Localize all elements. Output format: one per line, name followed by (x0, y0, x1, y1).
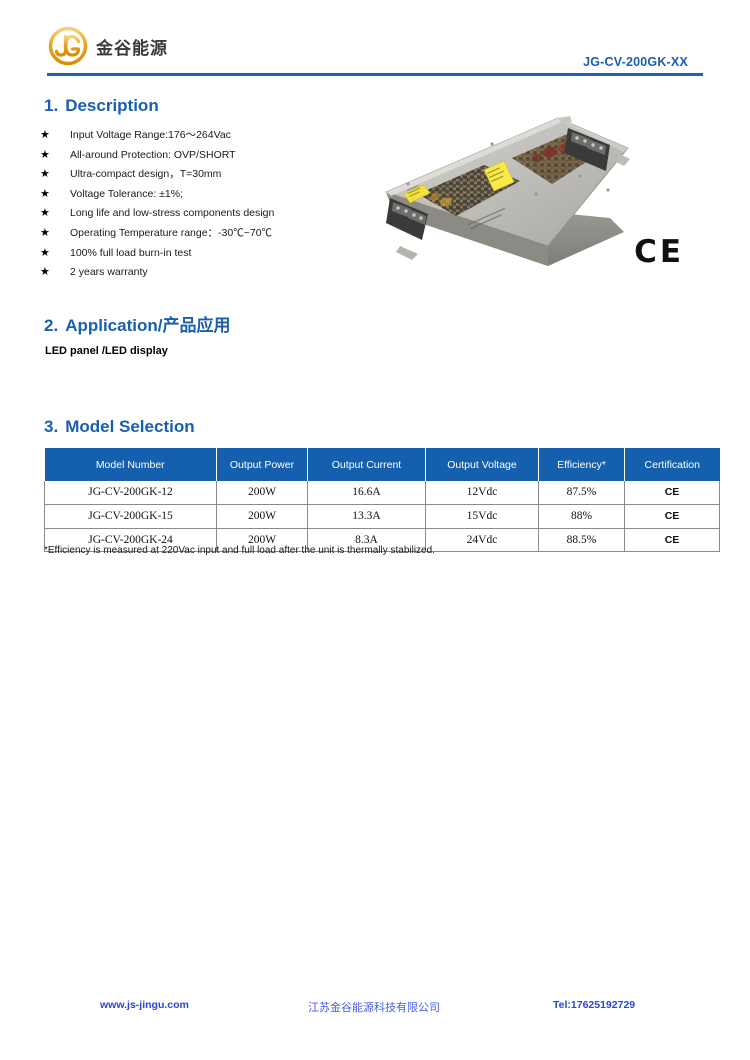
cell-voltage: 15Vdc (426, 504, 539, 528)
model-selection-table-wrapper: Model Number Output Power Output Current… (44, 448, 689, 552)
list-item: ★ Operating Temperature range：-30℃~70℃ (40, 226, 380, 246)
cell-voltage: 24Vdc (426, 528, 539, 552)
bullet-text: 100% full load burn-in test (70, 246, 191, 261)
section-title-application: Application/产品应用 (65, 316, 230, 335)
cell-model: JG-CV-200GK-15 (45, 504, 217, 528)
bullet-text: Input Voltage Range:176～264Vac (70, 128, 231, 143)
description-bullet-list: ★ Input Voltage Range:176～264Vac ★ All-a… (40, 128, 380, 285)
bullet-text: Operating Temperature range：-30℃~70℃ (70, 226, 272, 241)
cell-efficiency: 88% (539, 504, 625, 528)
cell-current: 16.6A (308, 481, 426, 504)
section-title-description: Description (65, 96, 159, 115)
list-item: ★ 2 years warranty (40, 265, 380, 285)
section-heading-description: 1.Description (44, 96, 159, 116)
column-header-model-number: Model Number (45, 448, 217, 481)
cell-efficiency: 88.5% (539, 528, 625, 552)
list-item: ★ Input Voltage Range:176～264Vac (40, 128, 380, 148)
header-divider (47, 73, 703, 76)
column-header-output-voltage: Output Voltage (426, 448, 539, 481)
section-number-2: 2. (44, 316, 58, 335)
list-item: ★ Long life and low-stress components de… (40, 206, 380, 226)
star-bullet-icon: ★ (40, 187, 70, 202)
bullet-text: Ultra-compact design，T=30mm (70, 167, 221, 182)
section-title-model-selection: Model Selection (65, 417, 194, 436)
cell-certification: CE (625, 481, 720, 504)
footer-website[interactable]: www.js-jingu.com (100, 999, 189, 1011)
list-item: ★ Ultra-compact design，T=30mm (40, 167, 380, 187)
column-header-output-power: Output Power (217, 448, 308, 481)
cell-power: 200W (217, 504, 308, 528)
table-row: JG-CV-200GK-12 200W 16.6A 12Vdc 87.5% CE (45, 481, 720, 504)
column-header-efficiency: Efficiency* (539, 448, 625, 481)
cell-model: JG-CV-200GK-12 (45, 481, 217, 504)
bullet-text: Voltage Tolerance: ±1%; (70, 187, 183, 202)
power-supply-photo (372, 96, 642, 276)
star-bullet-icon: ★ (40, 148, 70, 163)
table-row: JG-CV-200GK-15 200W 13.3A 15Vdc 88% CE (45, 504, 720, 528)
page-header: 金谷能源 JG-CV-200GK-XX (0, 0, 750, 82)
star-bullet-icon: ★ (40, 206, 70, 221)
table-header-row: Model Number Output Power Output Current… (45, 448, 720, 481)
cell-current: 13.3A (308, 504, 426, 528)
column-header-output-current: Output Current (308, 448, 426, 481)
jg-circular-logo-icon (47, 25, 89, 67)
cell-certification: CE (625, 528, 720, 552)
star-bullet-icon: ★ (40, 167, 70, 182)
company-name-cn: 金谷能源 (96, 34, 168, 59)
ce-mark-icon: CE (634, 234, 684, 270)
section-heading-model-selection: 3.Model Selection (44, 417, 195, 437)
page-footer: www.js-jingu.com 江苏金谷能源科技有限公司 Tel:176251… (0, 999, 750, 1021)
cell-voltage: 12Vdc (426, 481, 539, 504)
bullet-text: Long life and low-stress components desi… (70, 206, 274, 221)
footer-telephone: Tel:17625192729 (553, 999, 635, 1011)
list-item: ★ All-around Protection: OVP/SHORT (40, 148, 380, 168)
cell-efficiency: 87.5% (539, 481, 625, 504)
company-logo: 金谷能源 (47, 25, 168, 67)
section-number-1: 1. (44, 96, 58, 115)
model-selection-table: Model Number Output Power Output Current… (44, 448, 720, 552)
bullet-text: 2 years warranty (70, 265, 148, 280)
cell-certification: CE (625, 504, 720, 528)
bullet-text: All-around Protection: OVP/SHORT (70, 148, 236, 163)
star-bullet-icon: ★ (40, 246, 70, 261)
star-bullet-icon: ★ (40, 226, 70, 241)
column-header-certification: Certification (625, 448, 720, 481)
footer-company-cn: 江苏金谷能源科技有限公司 (308, 999, 440, 1015)
product-image-area: CE (372, 96, 698, 292)
section-number-3: 3. (44, 417, 58, 436)
efficiency-footnote: *Efficiency is measured at 220Vac input … (44, 545, 435, 556)
star-bullet-icon: ★ (40, 265, 70, 280)
list-item: ★ 100% full load burn-in test (40, 246, 380, 266)
star-bullet-icon: ★ (40, 128, 70, 143)
application-text: LED panel /LED display (45, 345, 168, 357)
section-heading-application: 2.Application/产品应用 (44, 311, 230, 336)
header-model-code: JG-CV-200GK-XX (583, 55, 688, 69)
cell-power: 200W (217, 481, 308, 504)
list-item: ★ Voltage Tolerance: ±1%; (40, 187, 380, 207)
